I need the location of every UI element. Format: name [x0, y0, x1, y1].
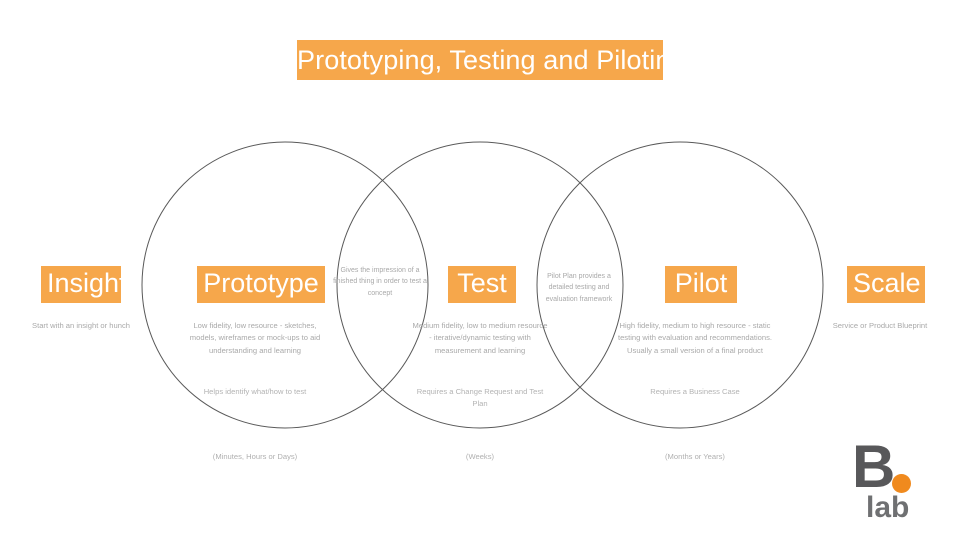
stage-label-test[interactable]: Test	[448, 266, 516, 303]
stage-note-prototype: Helps identify what/how to test	[185, 386, 325, 398]
overlap-text-prototype-test: Gives the impression of a finished thing…	[332, 265, 428, 299]
stage-label-prototype[interactable]: Prototype	[197, 266, 325, 303]
stage-description-prototype: Low fidelity, low resource - sketches, m…	[185, 320, 325, 357]
duration-pilot: (Months or Years)	[635, 452, 755, 461]
blab-logo: B lab	[852, 437, 944, 525]
overlap-text-test-pilot: Pilot Plan provides a detailed testing a…	[542, 271, 616, 305]
stage-note-pilot: Requires a Business Case	[612, 386, 778, 398]
stage-note-test: Requires a Change Request and Test Plan	[412, 386, 548, 411]
duration-prototype: (Minutes, Hours or Days)	[195, 452, 315, 461]
stage-label-pilot[interactable]: Pilot	[665, 266, 737, 303]
stage-description-pilot: High fidelity, medium to high resource -…	[612, 320, 778, 357]
slide-canvas: Prototyping, Testing and Piloting Insigh…	[0, 0, 960, 540]
logo-wordmark-lab: lab	[866, 493, 909, 523]
duration-test: (Weeks)	[440, 452, 520, 461]
stage-label-scale[interactable]: Scale	[847, 266, 925, 303]
stage-description-scale: Service or Product Blueprint	[824, 320, 936, 332]
logo-letter-b: B	[852, 437, 894, 497]
stage-description-test: Medium fidelity, low to medium resource …	[412, 320, 548, 357]
stage-description-insight: Start with an insight or hunch	[22, 320, 140, 332]
stage-label-insight[interactable]: Insight	[41, 266, 121, 303]
